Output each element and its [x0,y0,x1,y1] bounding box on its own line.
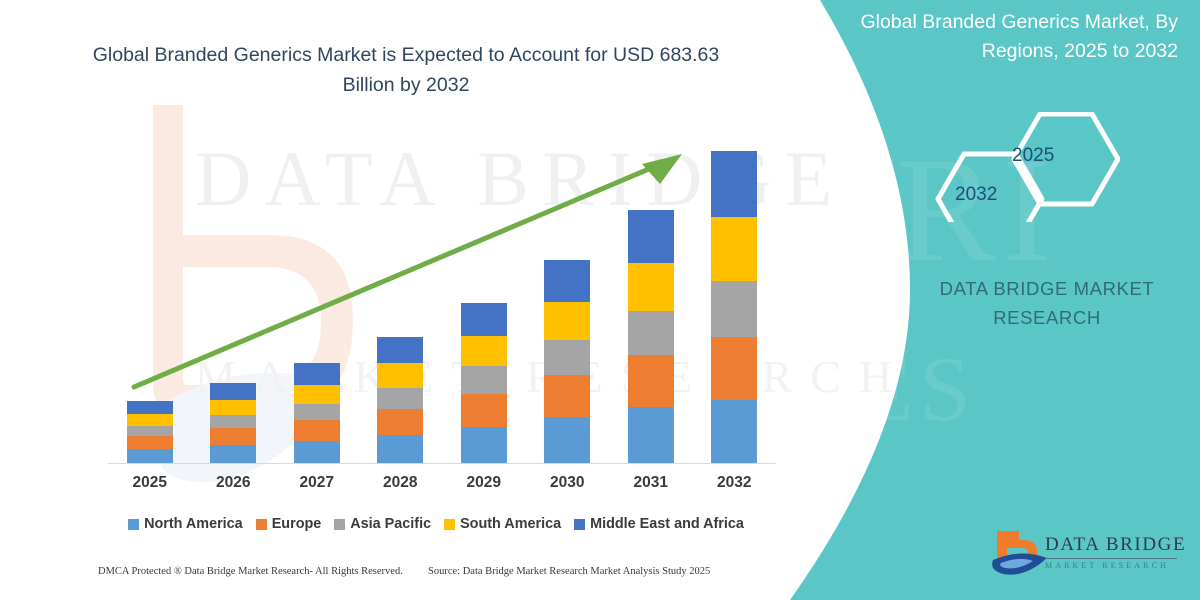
bar-segment-2026-south-america [210,400,256,415]
x-label-2028: 2028 [364,474,436,492]
legend-swatch-icon [128,519,139,530]
bar-2027[interactable] [294,363,340,463]
footer: DMCA Protected ® Data Bridge Market Rese… [0,566,800,590]
dbmr-logo-text: DATA BRIDGE MARKET RESEARCH [1045,534,1186,570]
bar-segment-2031-north-america [628,407,674,463]
x-label-2030: 2030 [531,474,603,492]
bar-segment-2028-north-america [377,435,423,463]
bar-segment-2031-europe [628,355,674,406]
legend-label: North America [144,516,243,532]
bar-segment-2027-middle-east-and-africa [294,363,340,384]
bar-segment-2026-europe [210,428,256,445]
legend-item-asia-pacific[interactable]: Asia Pacific [334,516,431,532]
dbmr-logo-name: DATA BRIDGE [1045,534,1186,556]
bar-2025[interactable] [127,401,173,463]
panel-brand-line1: DATA BRIDGE MARKET [912,275,1182,304]
bar-2029[interactable] [461,303,507,463]
bar-segment-2029-south-america [461,336,507,366]
bar-segment-2028-middle-east-and-africa [377,337,423,363]
bar-segment-2030-europe [544,375,590,416]
x-label-2031: 2031 [615,474,687,492]
svg-text:RES: RES [790,338,977,440]
bar-segment-2030-north-america [544,417,590,463]
page-title: Global Branded Generics Market is Expect… [86,40,726,100]
legend-label: Middle East and Africa [590,516,744,532]
page-title-line1: Global Branded Generics Market is Expect… [93,44,654,66]
bar-segment-2025-south-america [127,414,173,426]
legend-label: Asia Pacific [350,516,431,532]
footer-copyright: DMCA Protected ® Data Bridge Market Rese… [98,566,403,577]
x-axis-labels: 20252026202720282029203020312032 [86,474,786,498]
panel-title-line1: Global Branded Generics Market, By [860,11,1178,33]
bar-segment-2032-europe [711,337,757,399]
bar-segment-2031-south-america [628,263,674,311]
bar-segment-2029-middle-east-and-africa [461,303,507,336]
bar-segment-2032-asia-pacific [711,281,757,337]
stacked-bar-chart [86,140,786,470]
legend-label: South America [460,516,561,532]
bar-segment-2026-north-america [210,445,256,463]
legend-item-middle-east-and-africa[interactable]: Middle East and Africa [574,516,744,532]
bar-segment-2031-asia-pacific [628,311,674,355]
hexagon-2032-label: 2032 [955,184,997,206]
chart-legend: North AmericaEuropeAsia PacificSouth Ame… [86,512,786,536]
panel-title: Global Branded Generics Market, By Regio… [808,8,1178,67]
panel-brand-line2: RESEARCH [912,304,1182,333]
bar-segment-2029-asia-pacific [461,366,507,393]
x-label-2029: 2029 [448,474,520,492]
bar-segment-2026-asia-pacific [210,415,256,428]
bar-2026[interactable] [210,383,256,463]
bar-2031[interactable] [628,210,674,463]
x-label-2032: 2032 [698,474,770,492]
bar-segment-2027-north-america [294,441,340,463]
bar-segment-2030-asia-pacific [544,340,590,375]
bar-segment-2025-asia-pacific [127,426,173,436]
bar-segment-2027-asia-pacific [294,404,340,420]
bar-segment-2027-europe [294,420,340,441]
bar-segment-2025-europe [127,436,173,449]
bar-segment-2029-europe [461,394,507,427]
legend-swatch-icon [256,519,267,530]
x-axis-line [108,463,776,464]
x-label-2025: 2025 [114,474,186,492]
legend-swatch-icon [334,519,345,530]
plot-area [86,140,786,464]
bar-segment-2025-middle-east-and-africa [127,401,173,414]
bar-segment-2031-middle-east-and-africa [628,210,674,262]
bar-segment-2030-south-america [544,302,590,340]
bar-segment-2025-north-america [127,449,173,463]
bar-segment-2027-south-america [294,385,340,404]
bar-segment-2032-middle-east-and-africa [711,151,757,216]
hexagon-2025-label: 2025 [1012,145,1054,167]
bar-segment-2029-north-america [461,427,507,463]
legend-label: Europe [272,516,322,532]
x-label-2026: 2026 [197,474,269,492]
bar-segment-2032-north-america [711,400,757,463]
bar-segment-2028-europe [377,409,423,435]
legend-item-europe[interactable]: Europe [256,516,322,532]
bar-2032[interactable] [711,151,757,463]
bar-segment-2028-south-america [377,363,423,387]
infographic-canvas: DATA BRIDGE MARKET RESEARCH Global Brand… [0,0,1200,600]
bar-segment-2028-asia-pacific [377,388,423,409]
legend-swatch-icon [574,519,585,530]
panel-brand-text: DATA BRIDGE MARKET RESEARCH [912,275,1182,332]
footer-source: Source: Data Bridge Market Research Mark… [428,566,710,577]
bar-2028[interactable] [377,337,423,463]
legend-swatch-icon [444,519,455,530]
bar-segment-2026-middle-east-and-africa [210,383,256,400]
legend-item-north-america[interactable]: North America [128,516,243,532]
bar-2030[interactable] [544,260,590,463]
bar-segment-2032-south-america [711,217,757,281]
panel-title-line2: Regions, 2025 to 2032 [808,37,1178,66]
legend-item-south-america[interactable]: South America [444,516,561,532]
dbmr-logo-tagline: MARKET RESEARCH [1045,561,1186,570]
dbmr-logo-divider [1045,558,1177,559]
bar-segment-2030-middle-east-and-africa [544,260,590,302]
x-label-2027: 2027 [281,474,353,492]
